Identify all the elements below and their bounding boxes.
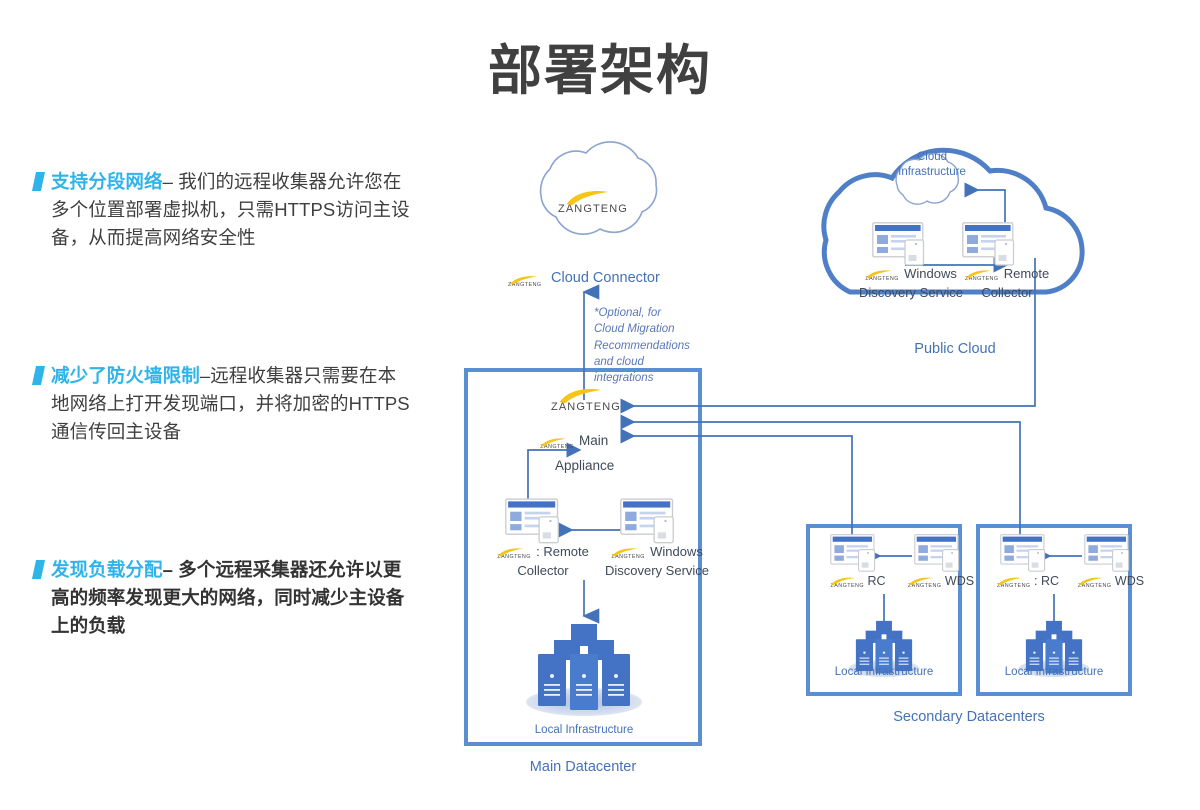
dc1-infrastructure-label: Local Infrastructure	[814, 665, 954, 680]
wds-icon-dc2	[1085, 535, 1129, 571]
zangteng-logo: ZANGTENG	[997, 584, 1029, 589]
zangteng-logo: ZANGTENG	[611, 555, 645, 560]
bullet-block-1: 支持分段网络– 我们的远程收集器允许您在多个位置部署虚拟机，只需HTTPS访问主…	[34, 168, 414, 252]
cloud-connector-shape	[541, 142, 657, 234]
cloud-infrastructure-label: Cloud Infrastructure	[882, 150, 982, 181]
cloud-connector-note: *Optional, for Cloud Migration Recommend…	[594, 305, 694, 387]
dc2-node-rc: ZANGTENG : RC	[988, 573, 1068, 590]
zangteng-logo: ZANGTENG	[497, 555, 531, 560]
remote-collector-icon-main	[506, 499, 558, 543]
main-dc-rc-line2: Collector	[488, 562, 598, 579]
bullet-lead-3: 发现负载分配	[51, 559, 163, 580]
cloud-connector-caption: ZANGTENG Cloud Connector	[508, 269, 668, 288]
zangteng-logo: ZANGTENG	[865, 277, 899, 282]
zangteng-swoosh-icon	[1078, 577, 1110, 586]
dc1-wds-label: WDS	[945, 573, 974, 590]
dc2-wds-label: WDS	[1115, 573, 1144, 590]
bullet-lead-2: 减少了防火墙限制	[51, 365, 200, 386]
main-dc-rc-line1: : Remote	[536, 543, 589, 560]
local-infrastructure-servers-main	[526, 624, 642, 716]
connector-rc-to-cloud-infra	[966, 190, 1005, 256]
zangteng-swoosh-icon	[908, 577, 940, 586]
dc1-node-wds: ZANGTENG WDS	[897, 573, 985, 590]
main-dc-node-rc: ZANGTENG : Remote Collector	[488, 543, 598, 580]
zangteng-swoosh-icon	[997, 577, 1029, 586]
zangteng-logo: ZANGTENG	[965, 277, 999, 282]
public-cloud-rc-line1: Remote	[1004, 265, 1050, 282]
main-dc-wds-line1: Windows	[650, 543, 703, 560]
rc-icon-dc2	[1001, 535, 1045, 571]
connector-secondary2-to-appliance	[622, 422, 1020, 548]
bullet-text-1: 支持分段网络– 我们的远程收集器允许您在多个位置部署虚拟机，只需HTTPS访问主…	[51, 168, 414, 252]
bullet-text-2: 减少了防火墙限制–远程收集器只需要在本地网络上打开发现端口，并将加密的HTTPS…	[51, 362, 414, 446]
bullet-text-3: 发现负载分配– 多个远程采集器还允许以更高的频率发现更大的网络，同时减少主设备上…	[51, 556, 414, 640]
bullet-marker-icon	[32, 560, 45, 579]
main-dc-infrastructure-label: Local Infrastructure	[514, 723, 654, 738]
zangteng-swoosh-icon	[611, 548, 645, 557]
zangteng-swoosh-icon	[558, 191, 628, 206]
zangteng-logo: ZANGTENG	[558, 204, 628, 215]
windows-discovery-service-icon-main	[621, 499, 673, 543]
main-appliance-line1: Main	[579, 432, 608, 450]
zangteng-swoosh-icon	[865, 270, 899, 279]
connector-secondary1-to-appliance	[622, 436, 852, 548]
cloud-connector-brand-logo: ZANGTENG	[548, 200, 638, 217]
public-cloud-rc-line2: Collector	[952, 284, 1062, 301]
zangteng-swoosh-icon	[965, 270, 999, 279]
public-cloud-wds-line1: Windows	[904, 265, 957, 282]
rc-icon-dc1	[831, 535, 875, 571]
bullet-marker-icon	[32, 172, 45, 191]
main-appliance-label: ZANGTENG Main Appliance	[540, 432, 650, 475]
zangteng-logo: ZANGTENG	[830, 584, 862, 589]
main-dc-wds-line2: Discovery Service	[594, 562, 720, 579]
zangteng-logo: ZANGTENG	[551, 402, 621, 413]
public-cloud-caption: Public Cloud	[895, 340, 1015, 359]
zangteng-logo: ZANGTENG	[508, 283, 546, 288]
main-appliance-brand-logo: ZANGTENG	[546, 398, 626, 415]
windows-discovery-service-icon-cloud	[873, 223, 924, 265]
main-datacenter-caption: Main Datacenter	[513, 758, 653, 777]
bullet-lead-1: 支持分段网络	[51, 171, 163, 192]
zangteng-logo: ZANGTENG	[540, 445, 574, 450]
bullet-marker-icon	[32, 366, 45, 385]
main-dc-node-wds: ZANGTENG Windows Discovery Service	[594, 543, 720, 580]
zangteng-logo: ZANGTENG	[1078, 584, 1110, 589]
secondary-datacenters-caption: Secondary Datacenters	[889, 708, 1049, 727]
public-cloud-node-rc: ZANGTENG Remote Collector	[952, 265, 1062, 302]
dc2-node-wds: ZANGTENG WDS	[1067, 573, 1155, 590]
cloud-connector-label: Cloud Connector	[551, 269, 660, 288]
page-title: 部署架构	[0, 44, 1200, 98]
zangteng-swoosh-icon	[497, 548, 531, 557]
zangteng-swoosh-icon	[551, 389, 621, 404]
dc2-rc-label: : RC	[1034, 573, 1059, 590]
zangteng-swoosh-icon	[508, 276, 546, 285]
dc1-node-rc: ZANGTENG RC	[818, 573, 898, 590]
zangteng-swoosh-icon	[830, 577, 862, 586]
wds-icon-dc1	[915, 535, 959, 571]
dc1-rc-label: RC	[867, 573, 885, 590]
bullet-block-3: 发现负载分配– 多个远程采集器还允许以更高的频率发现更大的网络，同时减少主设备上…	[34, 556, 414, 640]
main-appliance-line2: Appliance	[555, 457, 650, 475]
zangteng-logo: ZANGTENG	[908, 584, 940, 589]
zangteng-swoosh-icon	[540, 438, 574, 447]
remote-collector-icon-cloud	[963, 223, 1014, 265]
bullet-block-2: 减少了防火墙限制–远程收集器只需要在本地网络上打开发现端口，并将加密的HTTPS…	[34, 362, 414, 446]
dc2-infrastructure-label: Local Infrastructure	[984, 665, 1124, 680]
